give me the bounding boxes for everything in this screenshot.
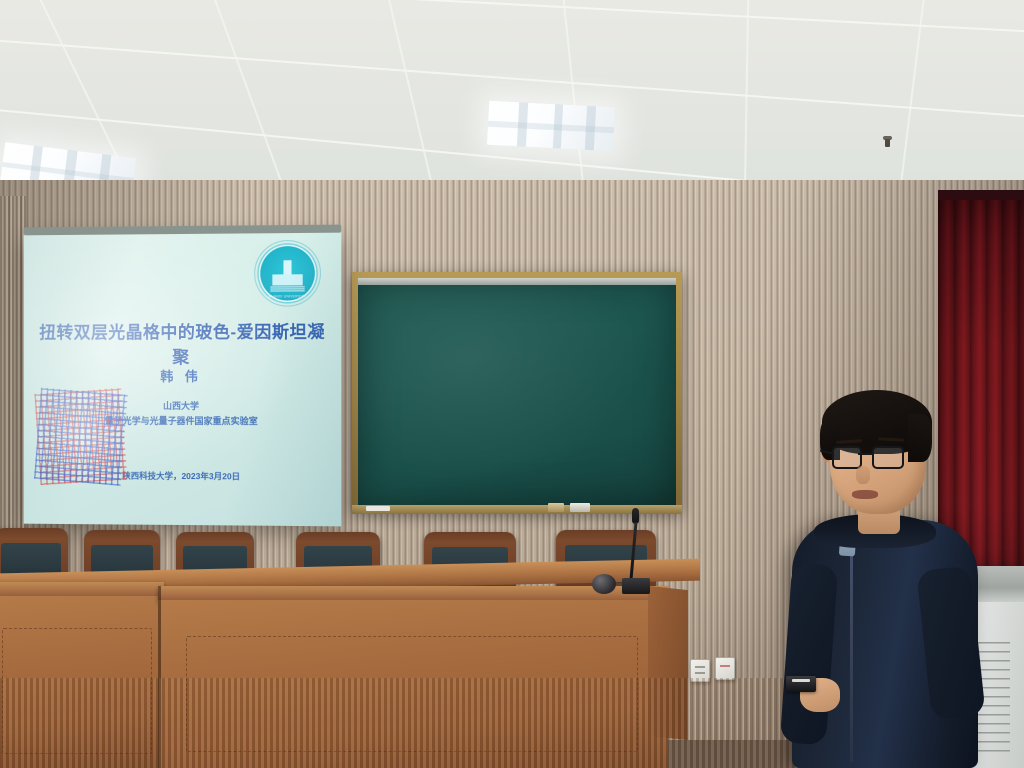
wall-outlet[interactable] <box>715 657 735 680</box>
eyeglass-lens-right <box>872 446 904 469</box>
microphone-base <box>622 578 650 594</box>
projection-screen: SHANXI UNIVERSITY 扭转双层光晶格中的玻色-爱因斯坦凝聚 韩 伟… <box>24 232 342 527</box>
fire-sprinkler-icon-right <box>883 136 892 148</box>
microphone-gooseneck <box>629 522 637 580</box>
desk-speaker-puck <box>592 574 616 594</box>
presenter-mouth <box>852 490 878 499</box>
chalkboard <box>352 272 682 512</box>
jacket-zipper <box>850 546 853 762</box>
eyeglass-lens-left <box>832 446 862 469</box>
presentation-slide: SHANXI UNIVERSITY 扭转双层光晶格中的玻色-爱因斯坦凝聚 韩 伟… <box>24 232 342 527</box>
presenter-clicker-remote[interactable] <box>786 676 816 692</box>
chalkboard-top-rail <box>358 278 676 285</box>
curtain-rail <box>938 190 1024 200</box>
eraser-left <box>548 503 564 512</box>
chalkboard-surface <box>358 278 676 506</box>
eyeglasses-icon <box>830 446 930 468</box>
presenter-nose <box>856 466 870 484</box>
microphone-assembly <box>586 508 656 600</box>
left-wall-strip <box>0 196 26 556</box>
fluorescent-light-panel-center <box>487 101 615 152</box>
slide-vignette <box>24 232 342 527</box>
chalk-stick <box>366 506 390 511</box>
presenter <box>778 378 993 768</box>
lecture-hall-photo: SHANXI UNIVERSITY 扭转双层光晶格中的玻色-爱因斯坦凝聚 韩 伟… <box>0 0 1024 768</box>
eyeglass-bridge <box>858 453 872 455</box>
